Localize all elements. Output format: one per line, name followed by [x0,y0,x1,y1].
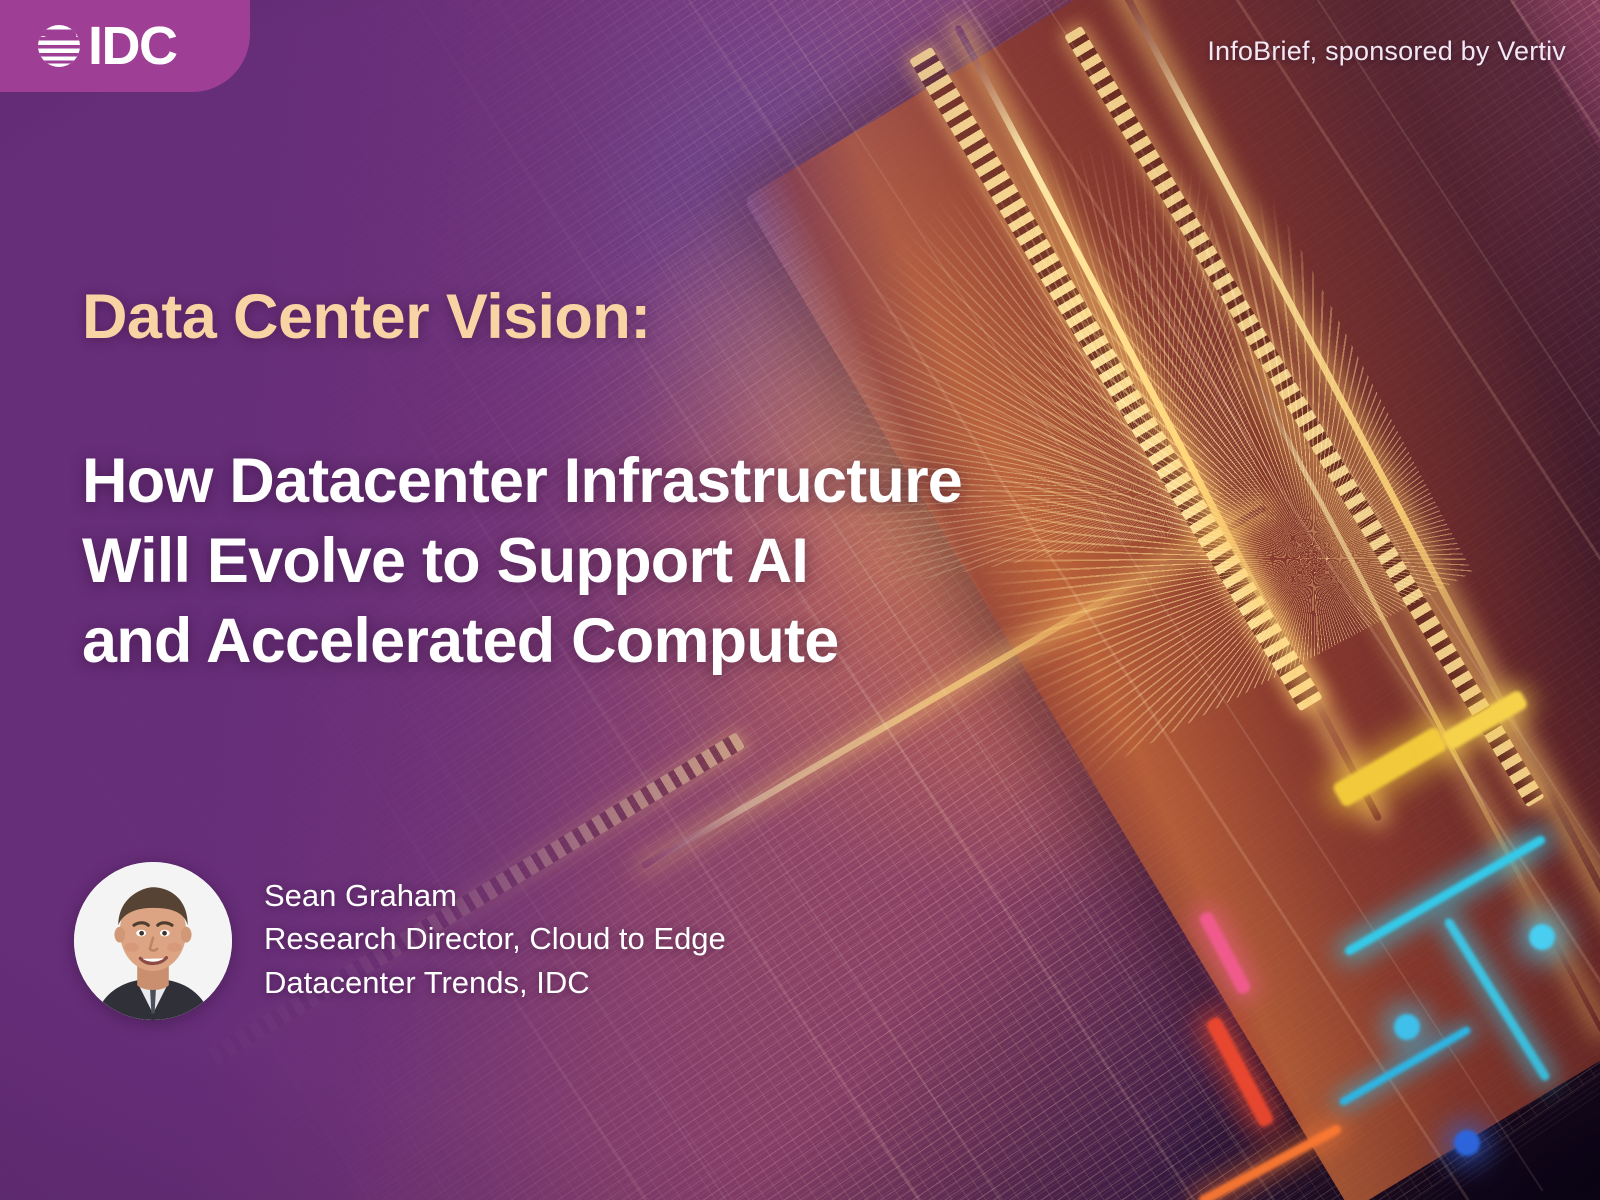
infobrief-cover-page: IDC InfoBrief, sponsored by Vertiv Data … [0,0,1600,1200]
author-name: Sean Graham [264,874,726,917]
idc-wordmark: IDC [88,19,177,73]
page-eyebrow: Data Center Vision: [82,282,1202,353]
author-title-line-1: Research Director, Cloud to Edge [264,917,726,960]
author-block: Sean Graham Research Director, Cloud to … [74,862,726,1020]
author-title-line-2: Datacenter Trends, IDC [264,961,726,1004]
page-title-line: How Datacenter Infrastructure [82,441,1202,521]
author-headshot [74,862,232,1020]
idc-globe-icon [34,21,84,71]
page-title: How Datacenter Infrastructure Will Evolv… [82,441,1202,681]
page-title-line: Will Evolve to Support AI [82,521,1202,601]
idc-logo: IDC [34,19,177,73]
idc-logo-tab: IDC [0,0,250,92]
author-details: Sean Graham Research Director, Cloud to … [264,874,726,1008]
sponsor-line: InfoBrief, sponsored by Vertiv [1207,36,1566,67]
title-block: Data Center Vision: How Datacenter Infra… [82,282,1202,681]
page-title-line: and Accelerated Compute [82,601,1202,681]
